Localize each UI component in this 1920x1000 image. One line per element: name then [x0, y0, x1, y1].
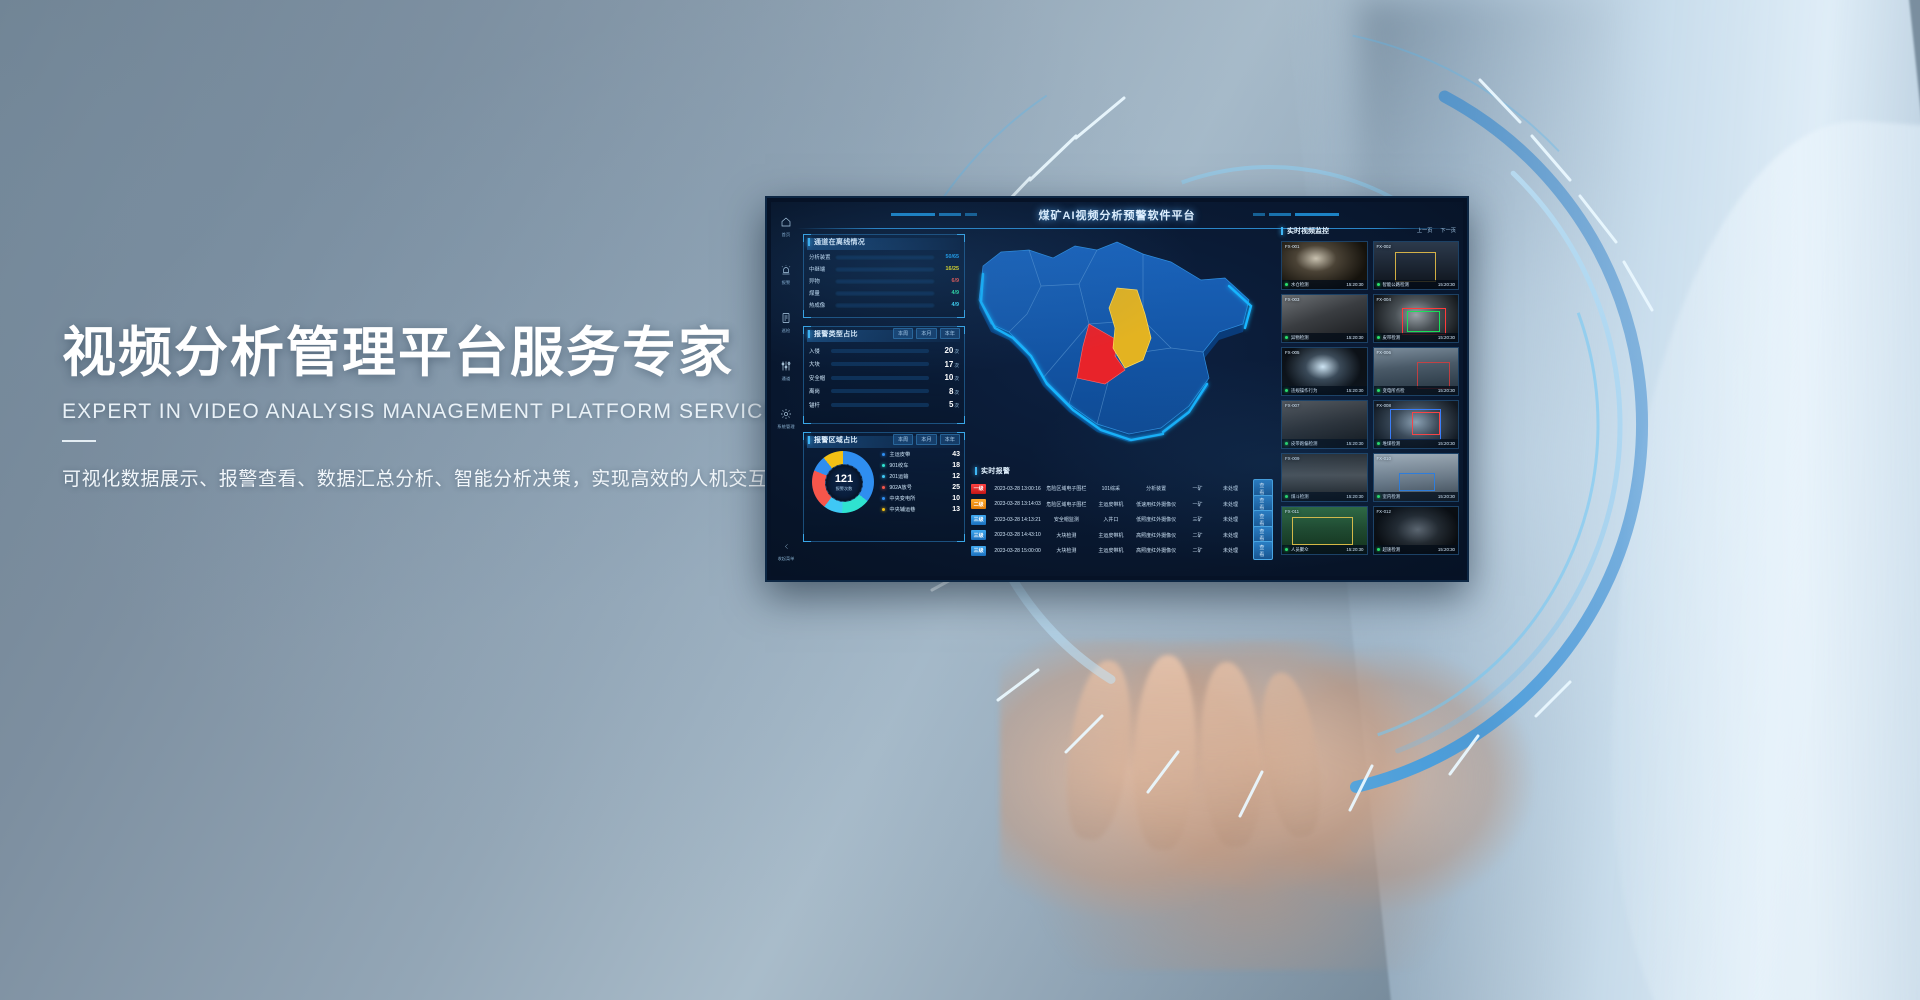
alarm-type-progress	[831, 376, 929, 380]
alarm-mine: 一矿	[1181, 501, 1213, 508]
camera-name: 人员聚众	[1291, 547, 1309, 553]
alarm-location: 101综采	[1091, 485, 1131, 492]
video-caption-bar: 水仓检测 15:20:30	[1282, 280, 1367, 289]
channel-label: 热成像	[809, 301, 835, 309]
video-grid: FX-001 水仓检测 15:20:30 FX-002 智能公路检测 15:20…	[1281, 241, 1459, 555]
status-badge: 一级	[971, 484, 986, 494]
alarm-location: 主运皮带机	[1091, 547, 1131, 554]
video-cell[interactable]: FX-007 皮带跑偏检测 15:20:30	[1281, 400, 1368, 449]
title-accent	[808, 238, 810, 246]
sidebar-item-inspection[interactable]: 巡检	[773, 312, 799, 344]
video-cell[interactable]: FX-003 异物检测 15:20:30	[1281, 294, 1368, 343]
legend-label: 901绞车	[889, 462, 944, 469]
camera-id: FX-011	[1285, 509, 1299, 514]
online-indicator	[1377, 283, 1380, 286]
channel-value: 4/9	[935, 290, 959, 296]
alarm-type-row: 离岗 8次	[804, 385, 964, 399]
video-cell[interactable]: FX-001 水仓检测 15:20:30	[1281, 241, 1368, 290]
online-indicator	[1377, 548, 1380, 551]
tab-1[interactable]: 本月	[916, 328, 936, 339]
channel-label: 煤量	[809, 289, 835, 297]
video-caption-bar: 皮带检测 15:20:30	[1374, 333, 1459, 342]
video-cell[interactable]: FX-011 人员聚众 15:20:30	[1281, 506, 1368, 555]
channel-status-list: 分析装置 50/65 中继端 16/25 异物 6/9 煤量 4/9 热成像 4…	[804, 251, 964, 311]
alarm-area-card: 报警区域占比 本周本月本年 121 报警次数 主运皮带 43 901绞车 18 …	[803, 432, 965, 542]
alarm-type-row: 入侵 20次	[804, 344, 964, 358]
legend-row: 中央辅运巷 13	[882, 504, 960, 515]
video-cell[interactable]: FX-010 室内检测 15:20:30	[1373, 453, 1460, 502]
title-accent	[808, 330, 810, 338]
camera-id: FX-006	[1377, 350, 1391, 355]
camera-time: 15:20:30	[1346, 335, 1363, 340]
sidebar-item-alarm[interactable]: 报警	[773, 264, 799, 296]
dashboard-title: 煤矿AI视频分析预警软件平台	[1039, 207, 1196, 223]
next-page-button[interactable]: 下一页	[1440, 227, 1456, 234]
channel-progress	[835, 279, 935, 284]
view-button[interactable]: 查看	[1253, 541, 1273, 560]
online-indicator	[1285, 283, 1288, 286]
alarm-type: 大块检测	[1042, 547, 1091, 554]
sidebar-collapse-button[interactable]: 收起菜单	[773, 538, 799, 562]
corner	[803, 534, 811, 542]
alarm-type-value: 10次	[929, 373, 959, 382]
video-caption-bar: 违规操作行为 15:20:30	[1282, 386, 1367, 395]
table-row: 二级 2023-03-28 13:14:03 危险区域电子围栏 主运皮带机 低速…	[971, 497, 1273, 513]
card-header: 实时视频监控 上一页 下一页	[1281, 224, 1459, 237]
camera-name: 变电所点检	[1383, 388, 1405, 394]
alarm-device: 低速用红外摄像仪	[1131, 501, 1182, 508]
card-title: 实时报警	[981, 466, 1010, 476]
sidebar-item-system[interactable]: 系统管理	[773, 408, 799, 440]
table-row: 一级 2023-03-28 13:00:16 危险区域电子围栏 101综采 分析…	[971, 481, 1273, 497]
province-map[interactable]	[957, 228, 1267, 458]
alarm-mine: 一矿	[1181, 485, 1213, 492]
sidebar-item-label: 报警	[773, 280, 799, 286]
camera-id: FX-008	[1377, 403, 1391, 408]
camera-time: 15:20:30	[1346, 388, 1363, 393]
legend-value: 10	[944, 495, 960, 502]
channel-status-row: 煤量 4/9	[804, 287, 964, 299]
video-cell[interactable]: FX-005 违规操作行为 15:20:30	[1281, 347, 1368, 396]
camera-time: 15:20:30	[1346, 547, 1363, 552]
video-caption-bar: 智能公路检测 15:20:30	[1374, 280, 1459, 289]
camera-id: FX-003	[1285, 297, 1299, 302]
channel-label: 中继端	[809, 265, 835, 273]
alarm-type-label: 离岗	[809, 387, 831, 395]
title-accent	[1281, 227, 1283, 235]
camera-id: FX-001	[1285, 244, 1299, 249]
page-title: 视频分析管理平台服务专家	[62, 322, 822, 384]
dashboard-screen: 煤矿AI视频分析预警软件平台 首页	[771, 202, 1463, 576]
realtime-alarm-section: 实时报警 一级 2023-03-28 13:00:16 危险区域电子围栏 101…	[971, 464, 1273, 566]
camera-name: 水仓检测	[1291, 282, 1309, 288]
video-cell[interactable]: FX-002 智能公路检测 15:20:30	[1373, 241, 1460, 290]
channel-status-row: 分析装置 50/65	[804, 251, 964, 263]
card-header: 通道在离线情况	[804, 235, 964, 248]
camera-time: 15:20:30	[1438, 388, 1455, 393]
alarm-type-progress	[831, 389, 929, 393]
video-pager: 上一页 下一页	[1417, 227, 1459, 234]
legend-row: 901绞车 18	[882, 460, 960, 471]
camera-time: 15:20:30	[1438, 547, 1455, 552]
corner	[803, 416, 811, 424]
alarm-location: 入井口	[1091, 516, 1131, 523]
camera-time: 15:20:30	[1346, 441, 1363, 446]
sidebar: 首页 报警 巡检 通道	[773, 216, 799, 570]
collapse-icon	[782, 538, 791, 555]
legend-value: 25	[944, 484, 960, 491]
camera-id: FX-007	[1285, 403, 1299, 408]
legend-label: 902A放号	[889, 484, 944, 491]
alarm-device: 分析装置	[1131, 485, 1182, 492]
card-header: 报警类型占比 本周本月本年	[804, 327, 964, 340]
channel-progress	[835, 291, 935, 296]
online-indicator	[1377, 336, 1380, 339]
camera-id: FX-009	[1285, 456, 1299, 461]
camera-name: 智能公路检测	[1383, 282, 1409, 288]
alarm-type-row: 锚杆 5次	[804, 398, 964, 412]
sidebar-item-label: 系统管理	[773, 424, 799, 430]
alarm-type-label: 大块	[809, 360, 831, 368]
donut-caption: 报警次数	[836, 486, 853, 492]
card-header: 实时报警	[971, 464, 1273, 477]
period-tabs[interactable]: 本周本月本年	[893, 328, 964, 339]
camera-name: 皮带检测	[1383, 335, 1401, 341]
online-indicator	[1377, 389, 1380, 392]
alarm-device: 高照度红外摄像仪	[1131, 547, 1182, 554]
camera-name: 违规操作行为	[1291, 388, 1317, 394]
video-caption-bar: 变电所点检 15:20:30	[1374, 386, 1459, 395]
camera-time: 15:20:30	[1438, 494, 1455, 499]
title-accent	[808, 436, 810, 444]
tab-0[interactable]: 本周	[893, 434, 913, 445]
header-decoration-left	[891, 213, 981, 216]
channel-status-card: 通道在离线情况 分析装置 50/65 中继端 16/25 异物 6/9 煤量 4…	[803, 234, 965, 318]
video-caption-bar: 室内检测 15:20:30	[1374, 492, 1459, 501]
channel-value: 50/65	[935, 254, 959, 260]
alarm-status: 未处理	[1214, 547, 1248, 554]
video-caption-bar: 超速检测 15:20:30	[1374, 545, 1459, 554]
alarm-status: 未处理	[1214, 516, 1248, 523]
video-caption-bar: 堆煤检测 15:20:30	[1374, 439, 1459, 448]
alarm-location: 主运皮带机	[1091, 532, 1131, 539]
camera-time: 15:20:30	[1346, 494, 1363, 499]
video-caption-bar: 皮带跑偏检测 15:20:30	[1282, 439, 1367, 448]
period-tabs[interactable]: 本周本月本年	[893, 434, 964, 445]
alarm-time: 2023-03-28 13:00:16	[986, 486, 1042, 492]
legend-label: 中央变电所	[889, 495, 944, 502]
camera-time: 15:20:30	[1438, 441, 1455, 446]
alarm-type: 危险区域电子围栏	[1042, 501, 1091, 508]
alarm-time: 2023-03-28 13:14:03	[986, 501, 1042, 507]
realtime-alarm-table: 一级 2023-03-28 13:00:16 危险区域电子围栏 101综采 分析…	[971, 481, 1273, 559]
alarm-time: 2023-03-28 14:43:10	[986, 532, 1042, 538]
alarm-type-label: 锚杆	[809, 401, 831, 409]
video-caption-bar: 煤斗检测 15:20:30	[1282, 492, 1367, 501]
alarm-type-label: 安全帽	[809, 374, 831, 382]
legend-label: 中央辅运巷	[889, 506, 944, 513]
home-icon	[773, 216, 799, 230]
alarm-status: 未处理	[1214, 485, 1248, 492]
video-cell[interactable]: FX-006 变电所点检 15:20:30	[1373, 347, 1460, 396]
card-header: 报警区域占比 本周本月本年	[804, 433, 964, 446]
sidebar-item-label: 巡检	[773, 328, 799, 334]
camera-name: 煤斗检测	[1291, 494, 1309, 500]
hero-banner: 视频分析管理平台服务专家 EXPERT IN VIDEO ANALYSIS MA…	[0, 0, 1920, 1000]
alarm-time: 2023-03-28 15:00:00	[986, 548, 1042, 554]
card-title: 报警区域占比	[814, 435, 858, 445]
camera-name: 皮带跑偏检测	[1291, 441, 1317, 447]
online-indicator	[1285, 442, 1288, 445]
channel-status-row: 热成像 4/9	[804, 299, 964, 311]
legend-value: 18	[944, 462, 960, 469]
card-title: 通道在离线情况	[814, 237, 865, 247]
channel-progress	[835, 267, 935, 272]
legend-dot	[882, 486, 885, 489]
camera-name: 异物检测	[1291, 335, 1309, 341]
alarm-mine: 二矿	[1181, 547, 1213, 554]
alarm-mine: 三矿	[1181, 516, 1213, 523]
sidebar-collapse-label: 收起菜单	[773, 556, 799, 562]
online-indicator	[1377, 442, 1380, 445]
donut-legend: 主运皮带 43 901绞车 18 201运输 12 902A放号 25 中央变电…	[882, 449, 960, 515]
online-indicator	[1285, 389, 1288, 392]
online-indicator	[1285, 336, 1288, 339]
video-caption-bar: 异物检测 15:20:30	[1282, 333, 1367, 342]
legend-row: 中央变电所 10	[882, 493, 960, 504]
corner	[803, 310, 811, 318]
alarm-type-progress	[831, 349, 929, 353]
divider	[62, 440, 96, 442]
legend-dot	[882, 497, 885, 500]
donut-center: 121 报警次数	[825, 464, 863, 502]
camera-time: 15:20:30	[1438, 335, 1455, 340]
header-decoration-right	[1253, 213, 1343, 216]
camera-time: 15:20:30	[1438, 282, 1455, 287]
gear-icon	[773, 408, 799, 422]
camera-id: FX-010	[1377, 456, 1391, 461]
status-badge: 三级	[971, 515, 986, 525]
channel-value: 16/25	[935, 266, 959, 272]
video-monitor-panel: 实时视频监控 上一页 下一页 FX-001 水仓检测 15:20:30 FX-0…	[1281, 224, 1459, 570]
channel-progress	[835, 255, 935, 260]
tab-1[interactable]: 本月	[916, 434, 936, 445]
card-title: 报警类型占比	[814, 329, 858, 339]
alarm-icon	[773, 264, 799, 278]
channel-label: 异物	[809, 277, 835, 285]
camera-id: FX-004	[1377, 297, 1391, 302]
alarm-type: 大块检测	[1042, 532, 1091, 539]
legend-row: 902A放号 25	[882, 482, 960, 493]
camera-name: 室内检测	[1383, 494, 1401, 500]
alarm-type-value: 5次	[929, 400, 959, 409]
video-caption-bar: 人员聚众 15:20:30	[1282, 545, 1367, 554]
inspection-icon	[773, 312, 799, 326]
corner	[957, 534, 965, 542]
video-cell[interactable]: FX-012 超速检测 15:20:30	[1373, 506, 1460, 555]
status-badge: 三级	[971, 546, 986, 556]
prev-page-button[interactable]: 上一页	[1417, 227, 1433, 234]
camera-id: FX-002	[1377, 244, 1391, 249]
legend-value: 13	[944, 506, 960, 513]
sidebar-item-label: 首页	[773, 232, 799, 238]
legend-row: 201运输 12	[882, 471, 960, 482]
table-row: 三级 2023-03-28 14:43:10 大块检测 主运皮带机 高照度红外摄…	[971, 528, 1273, 544]
sidebar-item-label: 通道	[773, 376, 799, 382]
card-title: 实时视频监控	[1287, 226, 1329, 236]
table-row: 三级 2023-03-28 15:00:00 大块检测 主运皮带机 高照度红外摄…	[971, 543, 1273, 559]
video-cell[interactable]: FX-008 堆煤检测 15:20:30	[1373, 400, 1460, 449]
sidebar-item-channel[interactable]: 通道	[773, 360, 799, 392]
channel-status-row: 异物 6/9	[804, 275, 964, 287]
channel-value: 4/9	[935, 302, 959, 308]
online-indicator	[1285, 548, 1288, 551]
alarm-type-list: 入侵 20次 大块 17次 安全帽 10次 离岗 8次 锚杆 5次	[804, 344, 964, 412]
hero-text-block: 视频分析管理平台服务专家 EXPERT IN VIDEO ANALYSIS MA…	[62, 322, 822, 491]
alarm-device: 高照度红外摄像仪	[1131, 532, 1182, 539]
dashboard-monitor: 煤矿AI视频分析预警软件平台 首页	[765, 196, 1469, 582]
camera-name: 超速检测	[1383, 547, 1401, 553]
alarm-type-progress	[831, 403, 929, 407]
alarm-type-value: 8次	[929, 387, 959, 396]
alarm-type: 安全帽监测	[1042, 516, 1091, 523]
alarm-time: 2023-03-28 14:13:21	[986, 517, 1042, 523]
legend-label: 主运皮带	[889, 451, 944, 458]
legend-dot	[882, 464, 885, 467]
status-badge: 三级	[971, 530, 986, 540]
alarm-status: 未处理	[1214, 532, 1248, 539]
province-map-svg	[957, 228, 1267, 458]
camera-name: 堆煤检测	[1383, 441, 1401, 447]
alarm-type-value: 20次	[929, 346, 959, 355]
alarm-mine: 二矿	[1181, 532, 1213, 539]
video-cell[interactable]: FX-004 皮带检测 15:20:30	[1373, 294, 1460, 343]
title-accent	[975, 467, 977, 475]
alarm-location: 主运皮带机	[1091, 501, 1131, 508]
status-badge: 二级	[971, 499, 986, 509]
video-cell[interactable]: FX-009 煤斗检测 15:20:30	[1281, 453, 1368, 502]
hero-description: 可视化数据展示、报警查看、数据汇总分析、智能分析决策，实现高效的人机交互	[62, 464, 822, 491]
alarm-type: 危险区域电子围栏	[1042, 485, 1091, 492]
alarm-area-donut[interactable]: 121 报警次数	[812, 451, 874, 513]
channel-status-row: 中继端 16/25	[804, 263, 964, 275]
online-indicator	[1377, 495, 1380, 498]
legend-value: 12	[944, 473, 960, 480]
alarm-type-progress	[831, 362, 929, 366]
camera-time: 15:20:30	[1346, 282, 1363, 287]
alarm-type-label: 入侵	[809, 347, 831, 355]
alarm-type-card: 报警类型占比 本周本月本年 入侵 20次 大块 17次 安全帽 10次 离岗 8…	[803, 326, 965, 424]
alarm-type-row: 安全帽 10次	[804, 371, 964, 385]
channel-label: 分析装置	[809, 253, 835, 261]
hero-subtitle-en: EXPERT IN VIDEO ANALYSIS MANAGEMENT PLAT…	[62, 400, 822, 424]
alarm-status: 未处理	[1214, 501, 1248, 508]
donut-total: 121	[835, 474, 853, 485]
tab-0[interactable]: 本周	[893, 328, 913, 339]
legend-row: 主运皮带 43	[882, 449, 960, 460]
table-row: 三级 2023-03-28 14:13:21 安全帽监测 入井口 低照度红外摄像…	[971, 512, 1273, 528]
legend-dot	[882, 453, 885, 456]
alarm-type-row: 大块 17次	[804, 358, 964, 372]
online-indicator	[1285, 495, 1288, 498]
alarm-type-value: 17次	[929, 360, 959, 369]
channel-progress	[835, 303, 935, 308]
alarm-device: 低照度红外摄像仪	[1131, 516, 1182, 523]
legend-dot	[882, 508, 885, 511]
channel-value: 6/9	[935, 278, 959, 284]
camera-id: FX-005	[1285, 350, 1299, 355]
legend-dot	[882, 475, 885, 478]
sidebar-item-home[interactable]: 首页	[773, 216, 799, 248]
camera-id: FX-012	[1377, 509, 1391, 514]
channel-icon	[773, 360, 799, 374]
legend-label: 201运输	[889, 473, 944, 480]
